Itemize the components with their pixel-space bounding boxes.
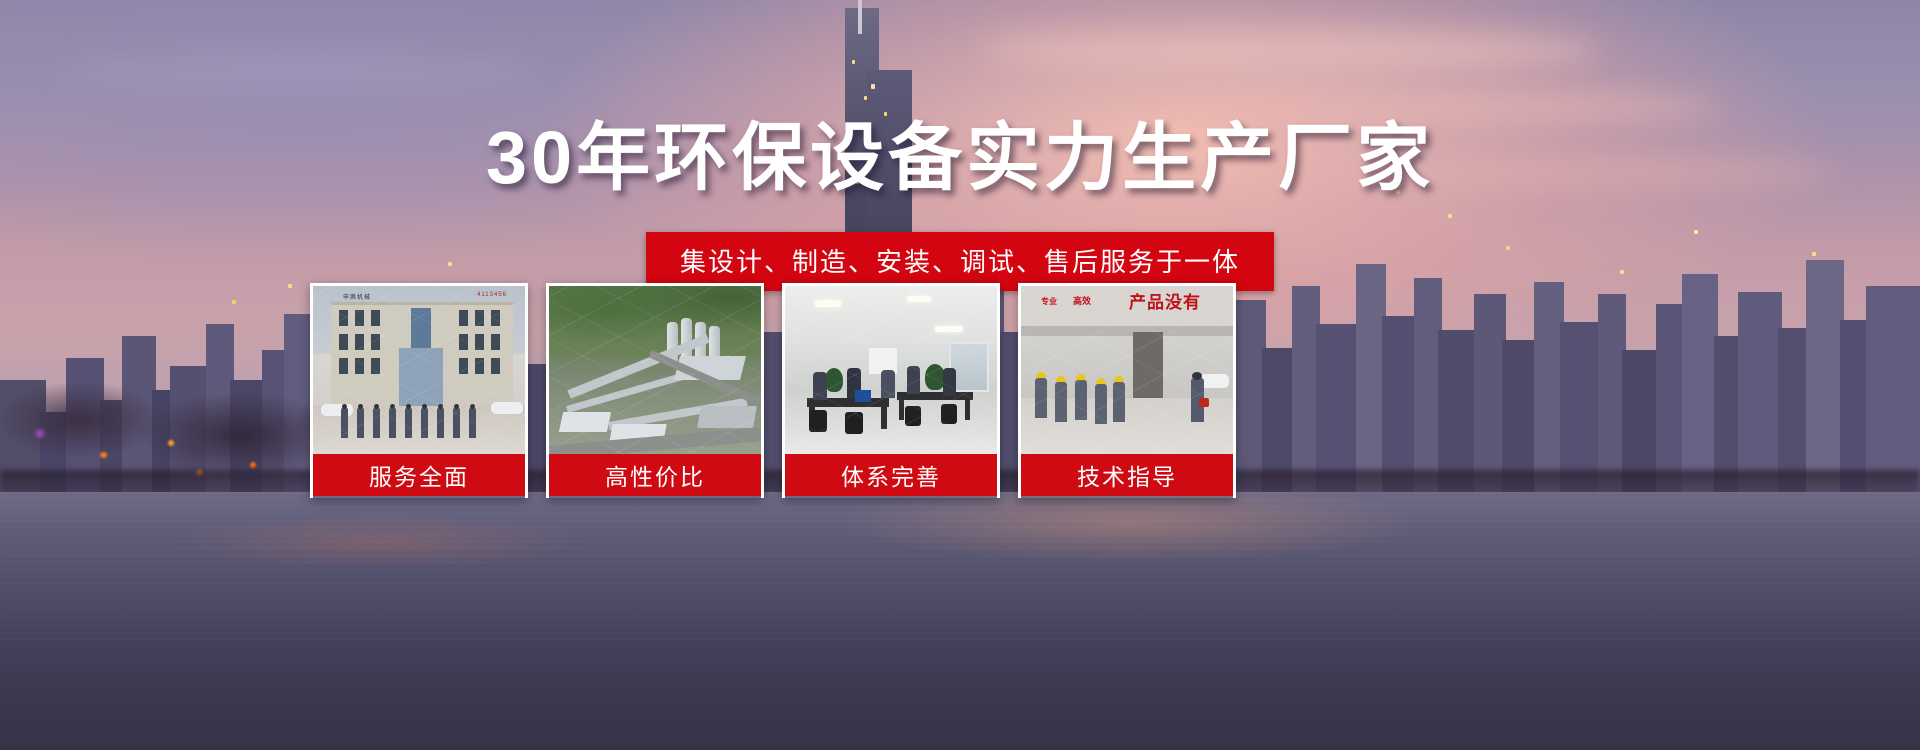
card-label-system: 体系完善: [785, 454, 997, 496]
card-photo-office: [785, 286, 997, 454]
card-photo-plant-aerial: [549, 286, 761, 454]
office-ceiling: [785, 286, 997, 344]
entrance-pediment: [399, 348, 443, 406]
card-label-service: 服务全面: [313, 454, 525, 496]
factory-banner-text-1: 专业: [1041, 296, 1057, 307]
card-label-guidance: 技术指导: [1021, 454, 1233, 496]
page-title: 30年环保设备实力生产厂家: [0, 98, 1920, 205]
factory-door: [1133, 332, 1163, 398]
feature-card-service[interactable]: 申茜机械 4113456: [310, 283, 528, 498]
feature-card-row: 申茜机械 4113456: [310, 283, 1560, 498]
building-sign-right: 4113456: [477, 292, 507, 298]
water-reflection: [0, 492, 1920, 642]
feature-card-system[interactable]: 体系完善: [782, 283, 1000, 498]
plant-surrounding-fields: [549, 286, 761, 356]
card-photo-headquarters: 申茜机械 4113456: [313, 286, 525, 454]
card-photo-factory-yard: 产品没有 专业 高效: [1021, 286, 1233, 454]
hero-banner: 30年环保设备实力生产厂家 集设计、制造、安装、调试、售后服务于一体 申茜机械 …: [0, 0, 1920, 750]
card-label-value: 高性价比: [549, 454, 761, 496]
feature-card-guidance[interactable]: 产品没有 专业 高效 技术指导: [1018, 283, 1236, 498]
factory-banner-text-2: 高效: [1073, 294, 1091, 307]
landmark-tower-spire: [858, 0, 862, 34]
desk-monitor: [855, 390, 871, 402]
red-bag: [1199, 398, 1209, 407]
building-sign-left: 申茜机械: [343, 292, 371, 301]
feature-card-value[interactable]: 高性价比: [546, 283, 764, 498]
factory-banner-main-text: 产品没有: [1129, 288, 1201, 313]
